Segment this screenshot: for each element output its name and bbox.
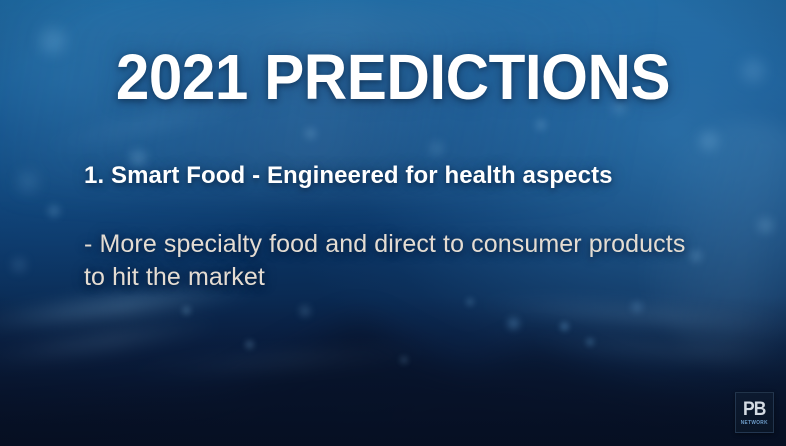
- pb-network-logo: PB NETWORK: [735, 392, 774, 433]
- logo-subtitle-text: NETWORK: [741, 421, 768, 426]
- slide-body-text: - More specialty food and direct to cons…: [84, 228, 704, 293]
- slide-title: 2021 PREDICTIONS: [24, 45, 763, 109]
- slide-content: 2021 PREDICTIONS 1. Smart Food - Enginee…: [0, 0, 786, 446]
- presentation-slide: 2021 PREDICTIONS 1. Smart Food - Enginee…: [0, 0, 786, 446]
- logo-mark-text: PB: [743, 400, 765, 419]
- slide-subtitle: 1. Smart Food - Engineered for health as…: [84, 163, 613, 189]
